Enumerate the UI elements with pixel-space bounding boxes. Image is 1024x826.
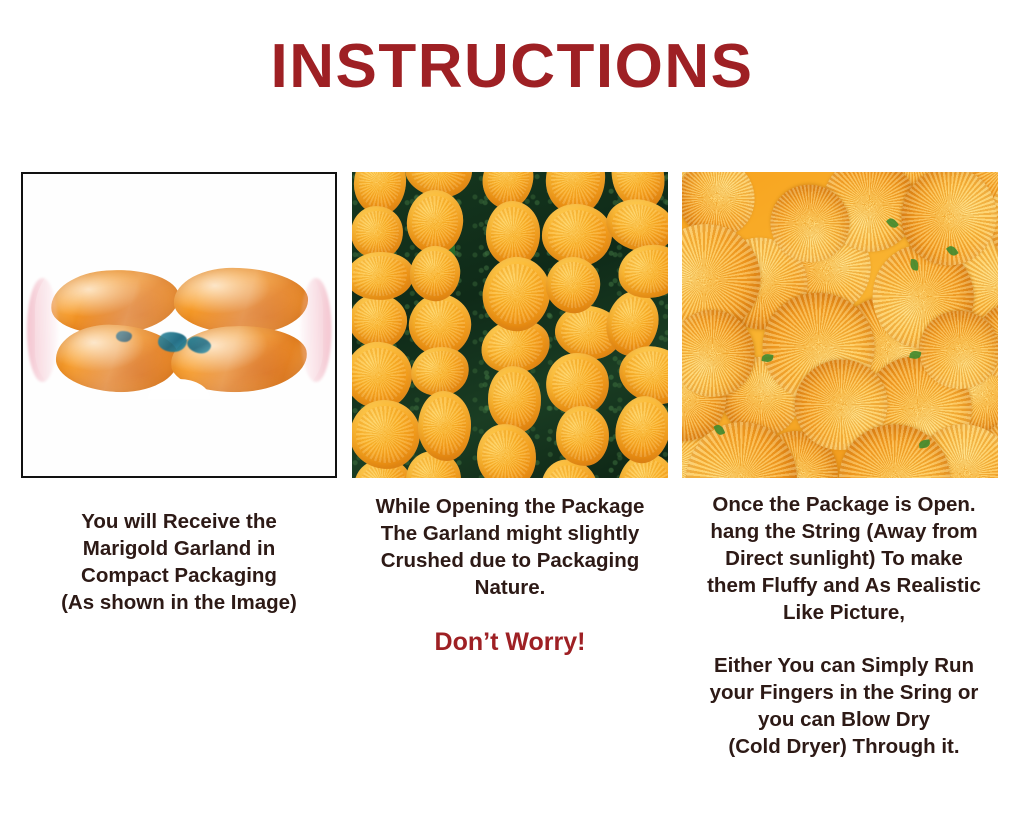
plastic-bag	[48, 268, 310, 392]
caption-column-opening: While Opening the Package The Garland mi…	[347, 478, 673, 657]
bag-edge-right	[300, 278, 331, 382]
marigold-bloom	[352, 399, 421, 470]
garland-strand-4	[550, 172, 613, 478]
caption-text-secondary: Either You can Simply Run your Fingers i…	[681, 652, 1007, 760]
bag-lobe-top-right	[173, 265, 309, 335]
marigold-bloom	[352, 250, 415, 302]
garland-strand-1	[352, 172, 412, 478]
marigold-bloom	[417, 391, 471, 462]
instructions-page: INSTRUCTIONS	[0, 0, 1024, 826]
image-packaged-garland	[21, 172, 337, 478]
page-title: INSTRUCTIONS	[0, 36, 1024, 98]
teal-tie-3	[116, 331, 132, 342]
caption-dont-worry: Don’t Worry!	[347, 627, 673, 657]
caption-column-fluffing: Once the Package is Open. hang the Strin…	[681, 478, 1007, 760]
marigold-bloom	[486, 364, 544, 435]
green-leaf-accent	[910, 259, 919, 270]
image-fluffy-marigolds	[682, 172, 998, 478]
caption-text: Once the Package is Open. hang the Strin…	[681, 491, 1007, 626]
caption-text: While Opening the Package The Garland mi…	[347, 493, 673, 601]
caption-row: You will Receive the Marigold Garland in…	[0, 478, 1024, 826]
image-garland-strings	[352, 172, 668, 478]
pom-pom-field	[682, 172, 998, 478]
bag-edge-left	[27, 278, 58, 382]
caption-text: You will Receive the Marigold Garland in…	[18, 508, 340, 616]
caption-column-packaging: You will Receive the Marigold Garland in…	[18, 478, 340, 616]
marigold-bloom	[477, 252, 556, 336]
garland-strand-3	[485, 172, 548, 478]
teal-tie-1	[158, 332, 187, 352]
garland-strand-2	[414, 172, 477, 478]
packaged-garland-illustration	[23, 174, 335, 476]
image-row	[0, 172, 1024, 478]
garland-strand-5	[614, 172, 668, 478]
